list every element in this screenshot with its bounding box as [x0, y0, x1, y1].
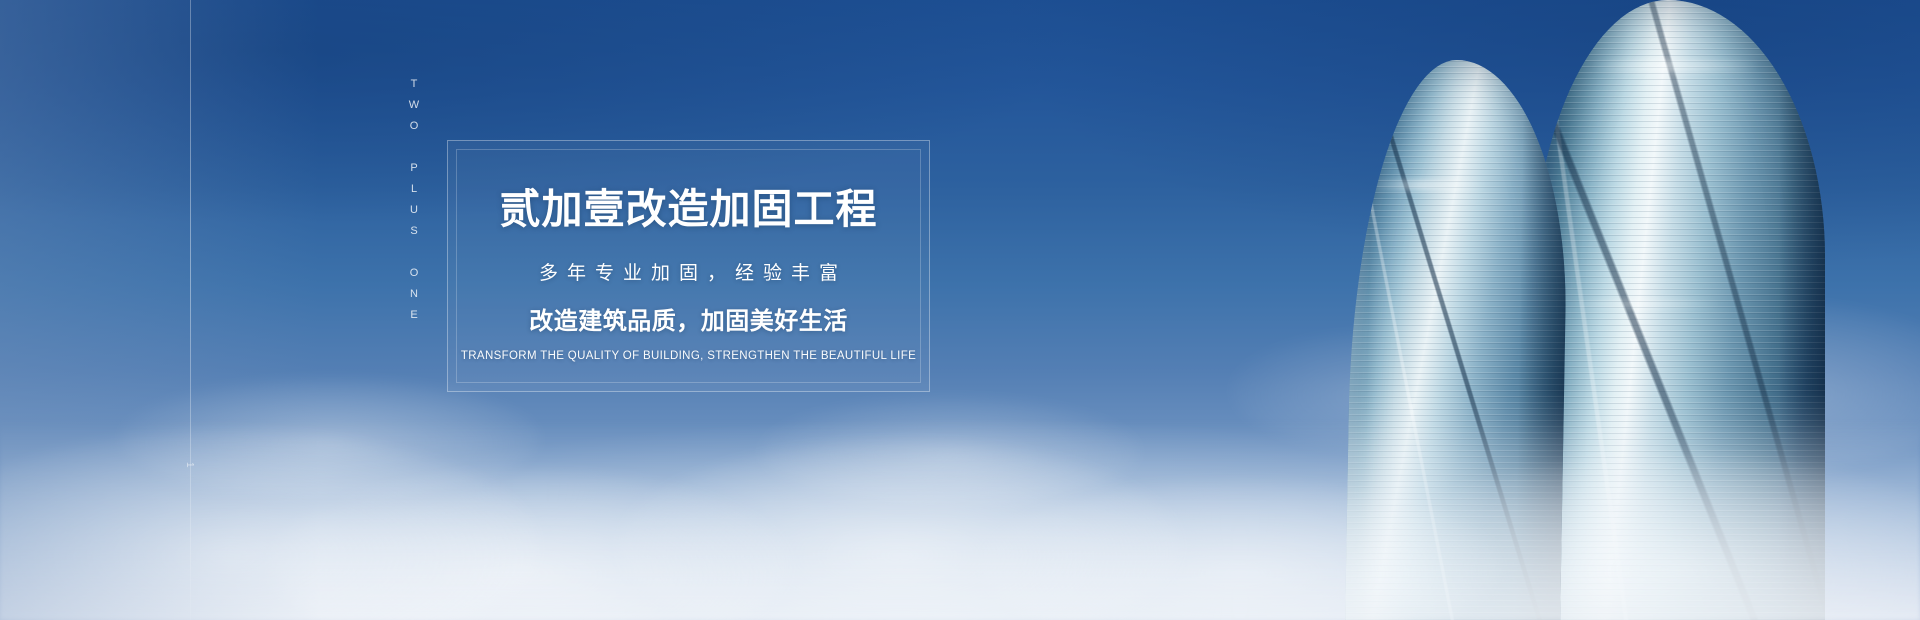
hero-slogan: 改造建筑品质，加固美好生活: [448, 310, 929, 334]
hero-tagline-english: TRANSFORM THE QUALITY OF BUILDING, STREN…: [448, 351, 929, 363]
hero-text-panel: 贰加壹改造加固工程 多年专业加固，经验丰富 改造建筑品质，加固美好生活 TRAN…: [447, 140, 930, 392]
cloud-haze-band: [0, 420, 1920, 620]
hero-subtitle: 多年专业加固，经验丰富: [448, 264, 929, 283]
page-title: 贰加壹改造加固工程: [448, 189, 929, 230]
vertical-brand-label: TWO PLUS ONE: [190, 78, 420, 330]
slide-index-marker: 1: [184, 462, 195, 469]
hero-panel-content: 贰加壹改造加固工程 多年专业加固，经验丰富 改造建筑品质，加固美好生活 TRAN…: [448, 141, 929, 363]
hero-banner: TWO PLUS ONE 1 贰加壹改造加固工程 多年专业加固，经验丰富 改造建…: [0, 0, 1920, 620]
